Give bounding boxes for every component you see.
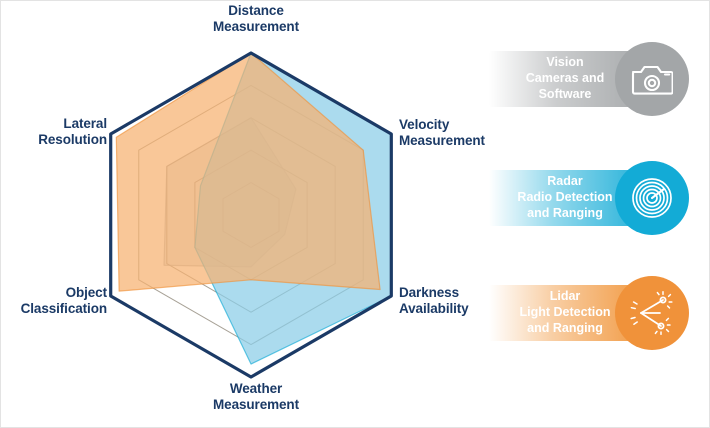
radar-chart-svg bbox=[1, 1, 501, 428]
radar-series-lidar bbox=[116, 53, 380, 291]
legend-label-vision: Vision Cameras and Software bbox=[495, 51, 635, 107]
legend-item-radar[interactable]: Radar Radio Detection and Ranging bbox=[489, 161, 689, 235]
legend-label-lidar: Lidar Light Detection and Ranging bbox=[495, 285, 635, 341]
radar-chart: Distance Measurement Velocity Measuremen… bbox=[1, 1, 501, 428]
legend: Vision Cameras and Software Radar Radio … bbox=[489, 1, 710, 428]
laser-beam-icon bbox=[615, 276, 689, 350]
radar-comparison-figure: Distance Measurement Velocity Measuremen… bbox=[0, 0, 710, 428]
axis-label-lateral-resolution: Lateral Resolution bbox=[3, 116, 107, 149]
radar-waves-icon bbox=[615, 161, 689, 235]
radar-series-polygons bbox=[116, 53, 391, 364]
axis-label-object-classification: Object Classification bbox=[3, 285, 107, 318]
axis-label-distance-measurement: Distance Measurement bbox=[181, 3, 331, 36]
camera-icon bbox=[615, 42, 689, 116]
legend-item-lidar[interactable]: Lidar Light Detection and Ranging bbox=[489, 276, 689, 350]
legend-label-radar: Radar Radio Detection and Ranging bbox=[495, 170, 635, 226]
legend-item-vision[interactable]: Vision Cameras and Software bbox=[489, 42, 689, 116]
axis-label-weather-measurement: Weather Measurement bbox=[181, 381, 331, 414]
